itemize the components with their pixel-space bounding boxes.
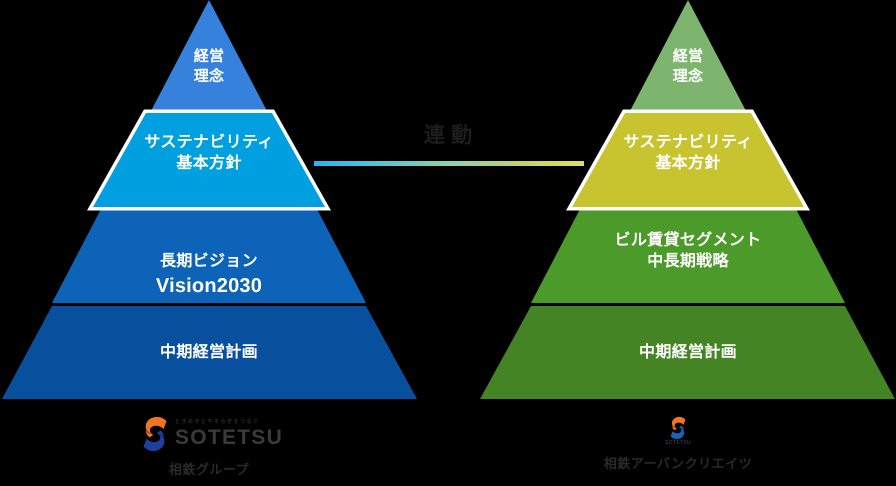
linkage-label: 連動 <box>398 119 498 149</box>
logo-wordmark-left: ときめきとやすらぎをつなぐ SOTETSU <box>175 420 283 448</box>
tier-sustainability-right-fill <box>572 113 804 207</box>
sotetsu-s-mark-icon <box>135 416 175 452</box>
tier-management-philosophy-left <box>152 0 267 110</box>
tier-sustainability-left-fill <box>93 113 325 207</box>
logo-name-right: SOTETSU <box>665 441 691 446</box>
pyramid-sotetsu-group <box>2 0 417 399</box>
diagram-canvas: 連動 経営 理念 サステナビリティ 基本方針 長期ビジョン Vision2030… <box>0 0 896 486</box>
logo-row-right: SOTETSU <box>665 416 691 446</box>
pyramids-graphic <box>0 0 896 486</box>
tier-building-lease-strategy-right <box>531 210 845 303</box>
linkage-connector-line <box>314 161 584 166</box>
tier-long-term-vision-left <box>52 210 366 303</box>
logo-block-sotetsu-urban-creates: SOTETSU 相鉄アーバンクリエイツ <box>508 416 848 472</box>
logo-name-left: SOTETSU <box>175 427 283 448</box>
pyramid-sotetsu-urban-creates <box>480 0 895 399</box>
tier-mid-term-plan-right <box>480 306 895 399</box>
tier-management-philosophy-right <box>631 0 746 110</box>
logo-tagline-left: ときめきとやすらぎをつなぐ <box>175 420 260 425</box>
caption-sotetsu-urban-creates: 相鉄アーバンクリエイツ <box>604 453 752 472</box>
logo-row-left: ときめきとやすらぎをつなぐ SOTETSU <box>135 416 283 452</box>
logo-block-sotetsu-group: ときめきとやすらぎをつなぐ SOTETSU 相鉄グループ <box>96 416 322 478</box>
sotetsu-s-mark-icon-small <box>665 416 691 440</box>
caption-sotetsu-group: 相鉄グループ <box>169 459 249 478</box>
tier-mid-term-plan-left <box>2 306 417 399</box>
